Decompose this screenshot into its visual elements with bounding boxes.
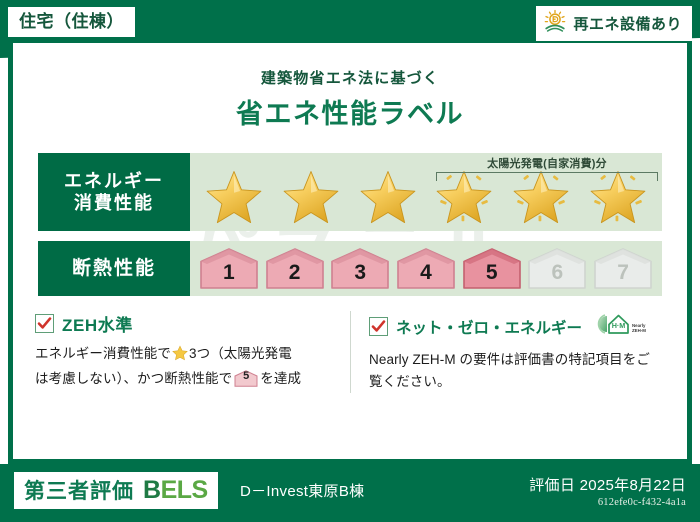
svg-text:H·M: H·M bbox=[612, 321, 626, 330]
zeh-desc-part3: を達成 bbox=[260, 371, 301, 386]
energy-performance-label-card: 住宅（住棟） 再エネ設備あり bbox=[0, 0, 700, 522]
zeh-standard-title: ZEH水準 bbox=[62, 311, 133, 336]
category-chip: 住宅（住棟） bbox=[8, 7, 135, 37]
third-party-eval-label: 第三者評価 bbox=[24, 475, 134, 505]
insulation-grade-4: 4 bbox=[395, 247, 457, 291]
insulation-grade-3: 3 bbox=[329, 247, 391, 291]
insulation-grade-2: 2 bbox=[264, 247, 326, 291]
inline-star-icon bbox=[172, 345, 188, 368]
insulation-grade-6: 6 bbox=[526, 247, 588, 291]
insulation-performance-row: 断熱性能 1 2 3 bbox=[38, 241, 662, 296]
insulation-grade-5: 5 bbox=[461, 247, 523, 291]
label-frame: パステル 建築物省エネ法に基づく 省エネ性能ラベル エネルギー 消費性能 太陽光… bbox=[8, 38, 692, 464]
inline-grade-badge: 5 bbox=[234, 370, 258, 387]
zeh-m-house-logo: H·M Nearly ZEH-M bbox=[596, 311, 648, 342]
insulation-grade-1: 1 bbox=[198, 247, 260, 291]
page-title: 省エネ性能ラベル bbox=[13, 92, 687, 131]
title-subtitle: 建築物省エネ法に基づく bbox=[13, 67, 687, 88]
insulation-grade-7: 7 bbox=[592, 247, 654, 291]
insulation-grade-value: 6 bbox=[552, 262, 564, 291]
net-zero-energy-checkbox bbox=[369, 317, 388, 336]
insulation-grades-panel: 1 2 3 4 5 bbox=[190, 241, 662, 296]
bels-logo-b: B bbox=[143, 476, 161, 504]
zeh-standard-header: ZEH水準 bbox=[35, 311, 336, 336]
zeh-standard-description: エネルギー消費性能で3つ（太陽光発電 は考慮しない）、かつ断熱性能で5を達成 bbox=[35, 343, 336, 390]
energy-stars-panel: 太陽光発電(自家消費)分 bbox=[190, 153, 662, 231]
insulation-grade-value: 5 bbox=[486, 262, 498, 291]
star-6 bbox=[587, 165, 649, 227]
footer-bar: 第三者評価 BELS D－Invest東原B棟 評価日 2025年8月22日 6… bbox=[0, 464, 700, 522]
insulation-grade-value: 4 bbox=[420, 262, 432, 291]
star-1 bbox=[203, 165, 265, 227]
insulation-grade-value: 3 bbox=[354, 262, 366, 291]
insulation-grade-value: 7 bbox=[617, 262, 629, 291]
star-rating-group bbox=[190, 153, 662, 231]
energy-label-line2: 消費性能 bbox=[74, 192, 154, 215]
net-zero-energy-title: ネット・ゼロ・エネルギー bbox=[396, 316, 582, 338]
star-4 bbox=[433, 165, 495, 227]
renewable-equipment-chip: 再エネ設備あり bbox=[536, 6, 692, 41]
building-name: D－Invest東原B棟 bbox=[240, 480, 364, 501]
insulation-performance-label: 断熱性能 bbox=[38, 241, 190, 296]
star-5 bbox=[510, 165, 572, 227]
solar-sun-icon bbox=[542, 9, 568, 38]
title-block: 建築物省エネ法に基づく 省エネ性能ラベル bbox=[13, 67, 687, 131]
renewable-equipment-label: 再エネ設備あり bbox=[573, 13, 682, 34]
energy-label-line1: エネルギー bbox=[64, 170, 164, 193]
evaluation-date: 評価日 2025年8月22日 bbox=[529, 474, 686, 495]
bels-logo: BELS bbox=[143, 476, 208, 505]
svg-text:ZEH-M: ZEH-M bbox=[632, 328, 646, 333]
zeh-desc-stars: 3つ（太陽光発電 bbox=[189, 346, 292, 361]
net-zero-energy-column: ネット・ゼロ・エネルギー bbox=[350, 311, 665, 393]
net-zero-energy-description: Nearly ZEH-M の要件は評価書の特記項目をご覧ください。 bbox=[369, 349, 651, 393]
star-2 bbox=[280, 165, 342, 227]
energy-performance-row: エネルギー 消費性能 太陽光発電(自家消費)分 bbox=[38, 153, 662, 231]
bels-certification-chip: 第三者評価 BELS bbox=[14, 472, 218, 509]
insulation-grade-group: 1 2 3 4 5 bbox=[190, 241, 662, 296]
zeh-standard-column: ZEH水準 エネルギー消費性能で3つ（太陽光発電 は考慮しない）、かつ断熱性能で… bbox=[35, 311, 350, 393]
zeh-desc-part1: エネルギー消費性能で bbox=[35, 346, 171, 361]
star-3 bbox=[357, 165, 419, 227]
energy-performance-label: エネルギー 消費性能 bbox=[38, 153, 190, 231]
zeh-section: ZEH水準 エネルギー消費性能で3つ（太陽光発電 は考慮しない）、かつ断熱性能で… bbox=[35, 311, 665, 393]
insulation-grade-value: 2 bbox=[289, 262, 301, 291]
evaluation-id: 612efe0c-f432-4a1a bbox=[598, 497, 686, 508]
bels-logo-els: ELS bbox=[161, 476, 208, 504]
net-zero-energy-header: ネット・ゼロ・エネルギー bbox=[369, 311, 651, 342]
zeh-desc-part2: は考慮しない）、かつ断熱性能で bbox=[35, 371, 232, 386]
insulation-grade-value: 1 bbox=[223, 262, 235, 291]
inline-grade-value: 5 bbox=[234, 370, 258, 387]
zeh-standard-checkbox bbox=[35, 314, 54, 333]
